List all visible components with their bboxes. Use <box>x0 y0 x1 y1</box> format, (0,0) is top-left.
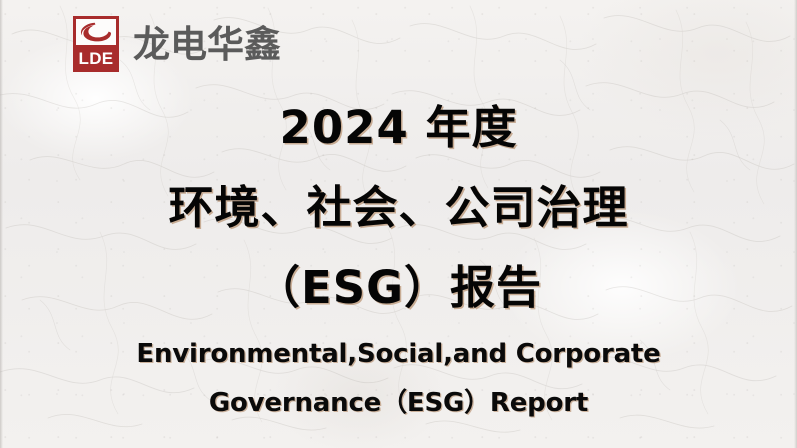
logo-emblem-plate <box>76 19 116 45</box>
logo-abbreviation: LDE <box>79 45 114 72</box>
subtitle-line-2: Governance（ESG）Report <box>0 379 797 428</box>
report-title: 2024 年度 环境、社会、公司治理 （ESG）报告 <box>0 88 797 328</box>
title-line-year: 2024 年度 <box>0 88 797 168</box>
company-logo: LDE <box>73 16 119 72</box>
company-name: 龙电华鑫 <box>133 26 281 63</box>
dragon-eye-mark-icon <box>80 22 112 42</box>
report-cover-slide: LDE 龙电华鑫 2024 年度 环境、社会、公司治理 （ESG）报告 Envi… <box>0 0 797 448</box>
report-subtitle: Environmental,Social,and Corporate Gover… <box>0 330 797 428</box>
title-line-esg-report: （ESG）报告 <box>0 248 797 328</box>
subtitle-line-1: Environmental,Social,and Corporate <box>0 330 797 379</box>
brand-header: LDE 龙电华鑫 <box>73 16 281 72</box>
title-line-topic: 环境、社会、公司治理 <box>0 168 797 248</box>
